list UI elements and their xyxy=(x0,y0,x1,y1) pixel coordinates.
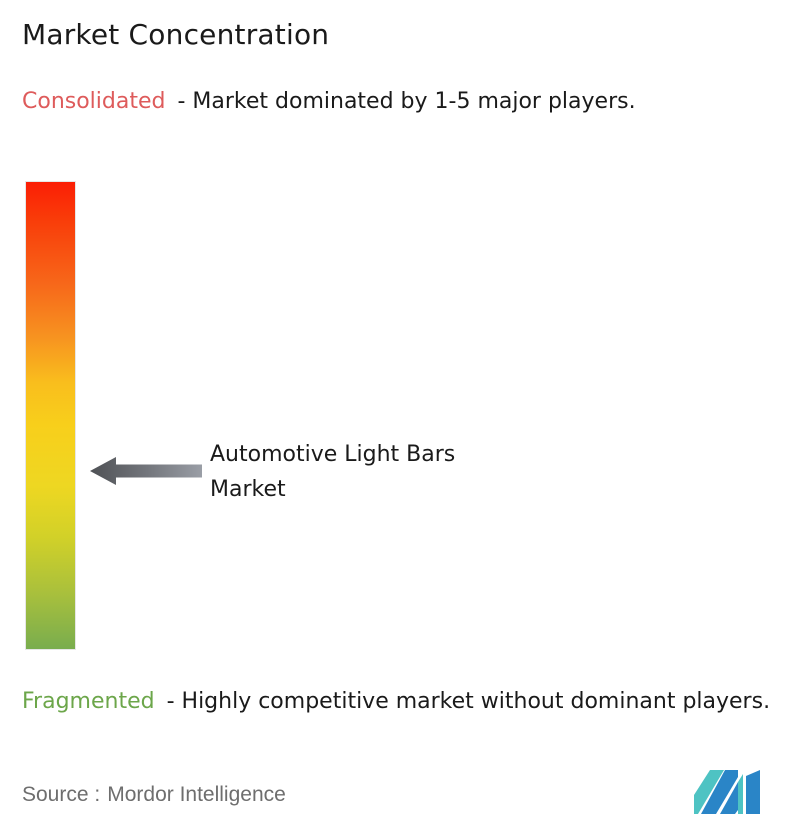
market-marker-label-line-1: Automotive Light Bars xyxy=(210,437,630,472)
legend-fragmented: Fragmented- Highly competitive market wi… xyxy=(22,686,782,718)
source-attribution: Source :Mordor Intelligence xyxy=(22,782,286,808)
legend-description-consolidated: - Market dominated by 1-5 major players. xyxy=(177,89,635,114)
source-value: Mordor Intelligence xyxy=(107,783,286,806)
source-label: Source : xyxy=(22,783,100,806)
market-marker-label: Automotive Light Bars Market xyxy=(210,437,630,507)
page-title: Market Concentration xyxy=(22,18,329,52)
legend-term-fragmented: Fragmented xyxy=(22,689,155,714)
legend-consolidated: Consolidated- Market dominated by 1-5 ma… xyxy=(22,86,766,118)
left-arrow-icon xyxy=(90,456,202,486)
market-marker-label-line-2: Market xyxy=(210,472,630,507)
legend-description-fragmented: - Highly competitive market without domi… xyxy=(167,689,770,714)
mordor-intelligence-logo xyxy=(694,770,760,814)
market-concentration-scale-bar xyxy=(25,181,76,650)
market-concentration-infographic: Market Concentration Consolidated- Marke… xyxy=(0,0,796,834)
legend-term-consolidated: Consolidated xyxy=(22,89,165,114)
market-position-marker: Automotive Light Bars Market xyxy=(90,437,690,517)
